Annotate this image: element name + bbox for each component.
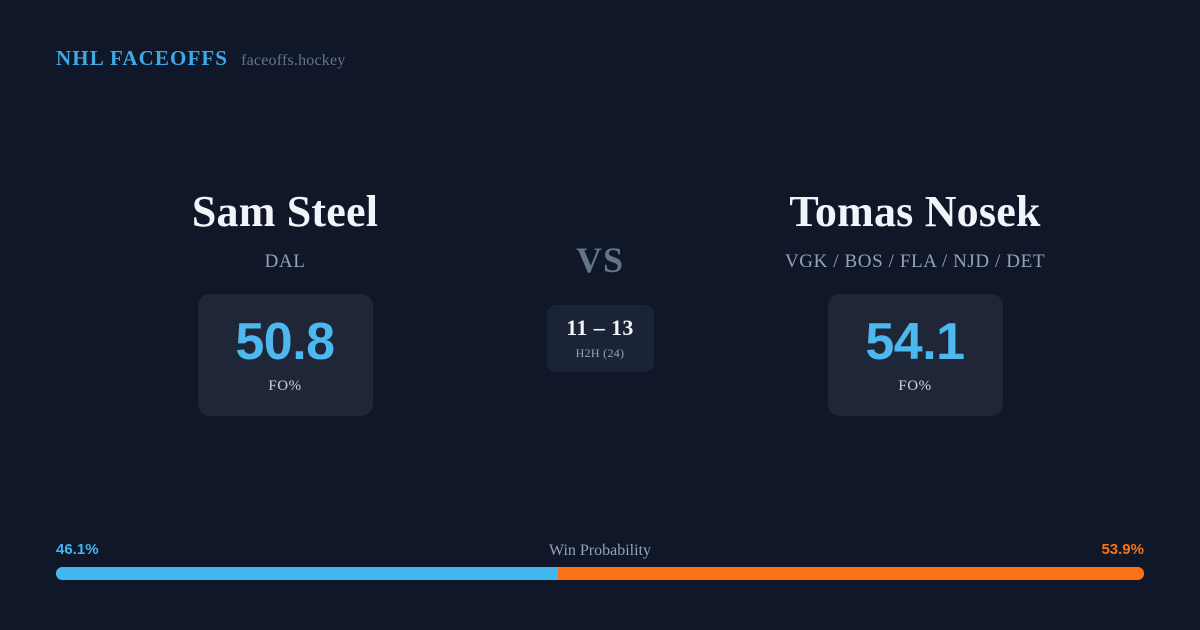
left-player-panel: Sam Steel DAL 50.8 FO% [70,190,500,416]
right-player-panel: Tomas Nosek VGK / BOS / FLA / NJD / DET … [700,190,1130,416]
versus-panel: VS 11 – 13 H2H (24) [500,190,700,372]
head-to-head-label: H2H (24) [576,346,625,361]
brand-title: NHL FACEOFFS [56,46,228,71]
left-player-stat-label: FO% [268,378,301,395]
right-player-name: Tomas Nosek [700,190,1130,234]
win-probability-bar-right-segment [558,567,1144,580]
left-player-name: Sam Steel [70,190,500,234]
matchup-row: Sam Steel DAL 50.8 FO% VS 11 – 13 H2H (2… [0,190,1200,440]
site-header: NHL FACEOFFS faceoffs.hockey [56,46,346,71]
site-domain-label: faceoffs.hockey [241,52,345,70]
right-win-probability-value: 53.9% [1101,541,1144,558]
win-probability-bar-left-segment [56,567,558,580]
win-probability-labels: 46.1% Win Probability 53.9% [56,541,1144,563]
left-player-teams: DAL [70,251,500,273]
right-player-teams: VGK / BOS / FLA / NJD / DET [700,251,1130,273]
head-to-head-box: 11 – 13 H2H (24) [547,305,654,372]
faceoff-comparison-card: NHL FACEOFFS faceoffs.hockey Sam Steel D… [0,0,1200,630]
head-to-head-score: 11 – 13 [566,317,634,339]
right-player-faceoff-pct: 54.1 [865,316,964,368]
win-probability-section: 46.1% Win Probability 53.9% [56,541,1144,580]
right-player-stat-label: FO% [898,378,931,395]
win-probability-title: Win Probability [56,542,1144,560]
left-player-faceoff-pct: 50.8 [235,316,334,368]
vs-label: VS [500,242,700,278]
left-player-stat-card: 50.8 FO% [198,294,373,416]
win-probability-bar [56,567,1144,580]
right-player-stat-card: 54.1 FO% [828,294,1003,416]
